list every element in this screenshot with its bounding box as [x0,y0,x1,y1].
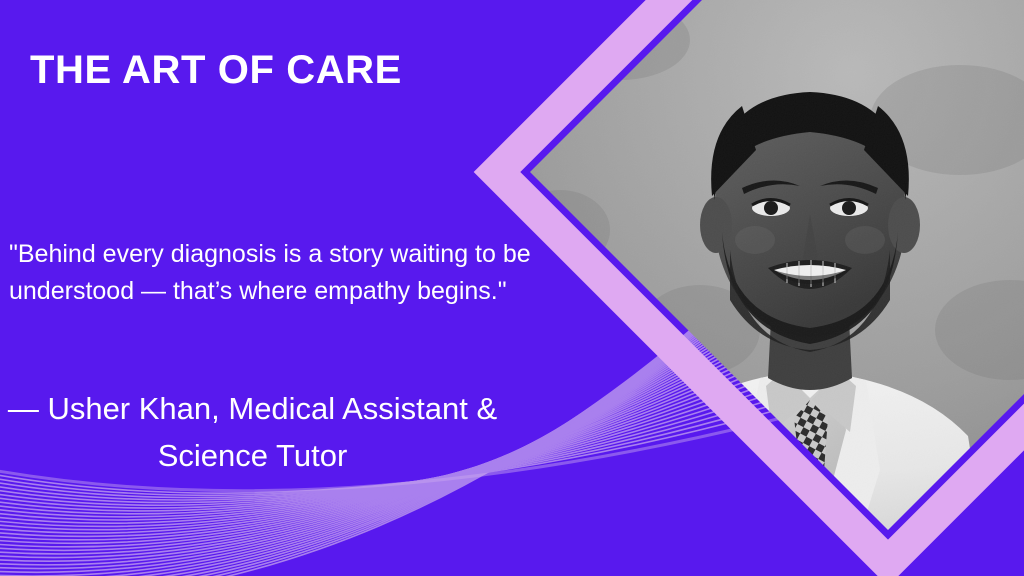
quote-attribution: — Usher Khan, Medical Assistant & Scienc… [0,385,505,479]
page-title: THE ART OF CARE [30,47,402,93]
text-layer: THE ART OF CARE "Behind every diagnosis … [0,0,1024,576]
quote-slide: THE ART OF CARE "Behind every diagnosis … [0,0,1024,576]
quote-text: "Behind every diagnosis is a story waiti… [9,236,554,310]
